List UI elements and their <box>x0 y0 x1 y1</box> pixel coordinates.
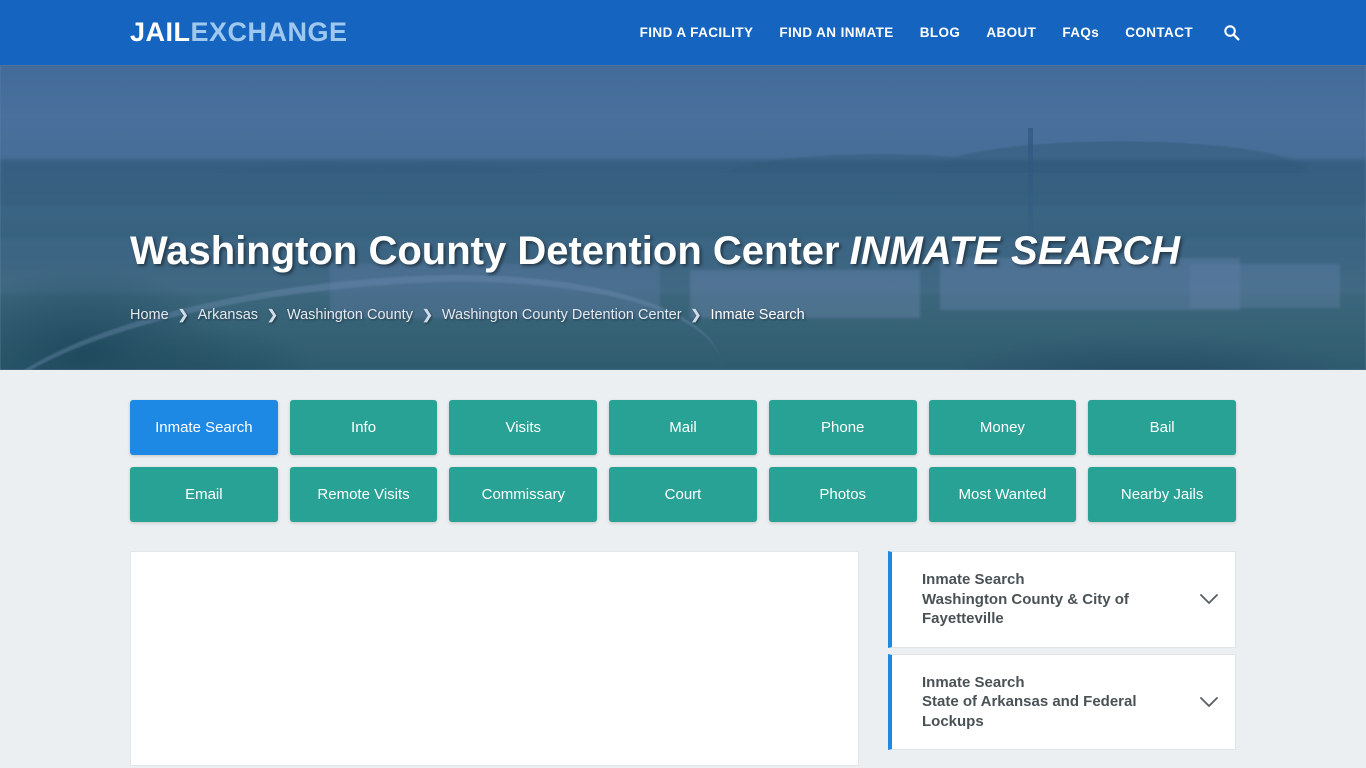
tab-remote-visits[interactable]: Remote Visits <box>290 467 438 522</box>
accordion-inmate-search-state-federal[interactable]: Inmate Search State of Arkansas and Fede… <box>888 654 1236 751</box>
breadcrumb-item-washington-county-detention-center[interactable]: Washington County Detention Center <box>442 307 682 323</box>
nav-item-find-an-inmate[interactable]: FIND AN INMATE <box>779 25 893 40</box>
logo-text-exchange: EXCHANGE <box>191 17 348 47</box>
breadcrumb-item-washington-county[interactable]: Washington County <box>287 307 413 323</box>
nav-item-find-a-facility[interactable]: FIND A FACILITY <box>640 25 754 40</box>
tab-mail[interactable]: Mail <box>609 400 757 455</box>
logo-text-jail: JAIL <box>130 17 191 47</box>
chevron-right-icon: ❯ <box>267 307 278 323</box>
tab-visits[interactable]: Visits <box>449 400 597 455</box>
chevron-right-icon: ❯ <box>691 307 702 323</box>
breadcrumb-item-arkansas[interactable]: Arkansas <box>198 307 258 323</box>
breadcrumb: Home ❯ Arkansas ❯ Washington County ❯ Wa… <box>130 307 805 323</box>
nav-item-faqs[interactable]: FAQs <box>1062 25 1099 40</box>
page-title-pagekind: INMATE SEARCH <box>850 229 1180 273</box>
chevron-right-icon: ❯ <box>178 307 189 323</box>
nav-item-blog[interactable]: BLOG <box>920 25 961 40</box>
main-content-panel <box>130 551 859 766</box>
tab-photos[interactable]: Photos <box>769 467 917 522</box>
hero-banner: Washington County Detention CenterINMATE… <box>0 65 1366 370</box>
chevron-right-icon: ❯ <box>422 307 433 323</box>
site-logo[interactable]: JAILEXCHANGE <box>130 19 348 46</box>
accordion-label: Inmate Search Washington County & City o… <box>922 570 1187 629</box>
tab-most-wanted[interactable]: Most Wanted <box>929 467 1077 522</box>
accordion-label: Inmate Search State of Arkansas and Fede… <box>922 673 1187 732</box>
accordion-subtitle: State of Arkansas and Federal Lockups <box>922 692 1187 731</box>
facility-tabs: Inmate Search Info Visits Mail Phone Mon… <box>130 400 1236 522</box>
tab-inmate-search[interactable]: Inmate Search <box>130 400 278 455</box>
chevron-down-icon[interactable] <box>1199 696 1219 708</box>
tab-info[interactable]: Info <box>290 400 438 455</box>
tab-commissary[interactable]: Commissary <box>449 467 597 522</box>
sidebar: Inmate Search Washington County & City o… <box>888 551 1236 756</box>
nav-item-contact[interactable]: CONTACT <box>1125 25 1193 40</box>
search-icon <box>1223 24 1240 41</box>
tab-money[interactable]: Money <box>929 400 1077 455</box>
nav-item-about[interactable]: ABOUT <box>986 25 1036 40</box>
accordion-subtitle: Washington County & City of Fayetteville <box>922 590 1187 629</box>
page-title-facility: Washington County Detention Center <box>130 229 840 273</box>
accordion-title: Inmate Search <box>922 674 1025 691</box>
main-body: Inmate Search Washington County & City o… <box>130 551 1236 766</box>
tab-email[interactable]: Email <box>130 467 278 522</box>
chevron-down-icon[interactable] <box>1199 593 1219 605</box>
tab-court[interactable]: Court <box>609 467 757 522</box>
accordion-inmate-search-washington-county[interactable]: Inmate Search Washington County & City o… <box>888 551 1236 648</box>
search-button[interactable] <box>1223 24 1240 41</box>
tab-bail[interactable]: Bail <box>1088 400 1236 455</box>
breadcrumb-item-home[interactable]: Home <box>130 307 169 323</box>
breadcrumb-item-inmate-search: Inmate Search <box>710 307 804 323</box>
accordion-title: Inmate Search <box>922 571 1025 588</box>
page-title: Washington County Detention CenterINMATE… <box>130 231 1180 271</box>
site-header: JAILEXCHANGE FIND A FACILITY FIND AN INM… <box>0 0 1366 65</box>
tab-nearby-jails[interactable]: Nearby Jails <box>1088 467 1236 522</box>
hero-content: Washington County Detention CenterINMATE… <box>130 65 1366 370</box>
main-navigation: FIND A FACILITY FIND AN INMATE BLOG ABOU… <box>640 24 1240 41</box>
tab-phone[interactable]: Phone <box>769 400 917 455</box>
facility-tabs-section: Inmate Search Info Visits Mail Phone Mon… <box>0 370 1366 522</box>
